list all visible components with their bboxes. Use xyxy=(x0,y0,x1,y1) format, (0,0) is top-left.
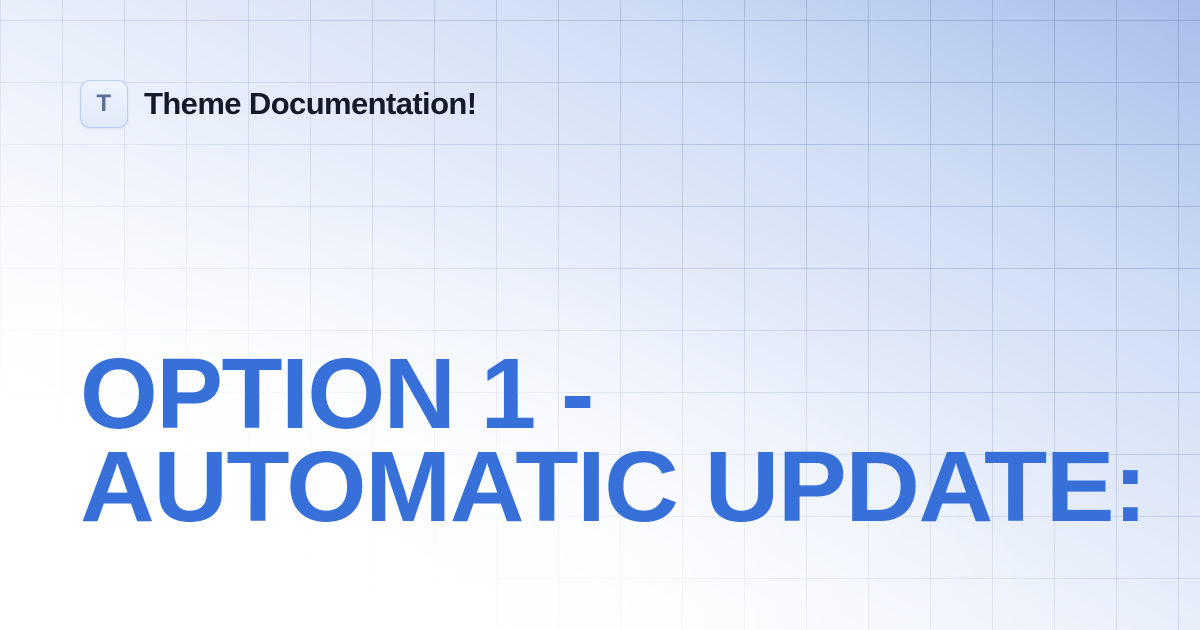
brand-row: T Theme Documentation! xyxy=(80,80,476,128)
brand-title: Theme Documentation! xyxy=(144,86,476,122)
headline-line-2: Automatic Update: xyxy=(80,441,1156,534)
headline-line-1: Option 1 - xyxy=(80,348,1120,441)
og-card: T Theme Documentation! Option 1 - Automa… xyxy=(0,0,1200,630)
page-title: Option 1 - Automatic Update: xyxy=(80,348,1120,534)
badge-letter: T xyxy=(96,92,111,116)
theme-letter-badge-icon: T xyxy=(80,80,128,128)
